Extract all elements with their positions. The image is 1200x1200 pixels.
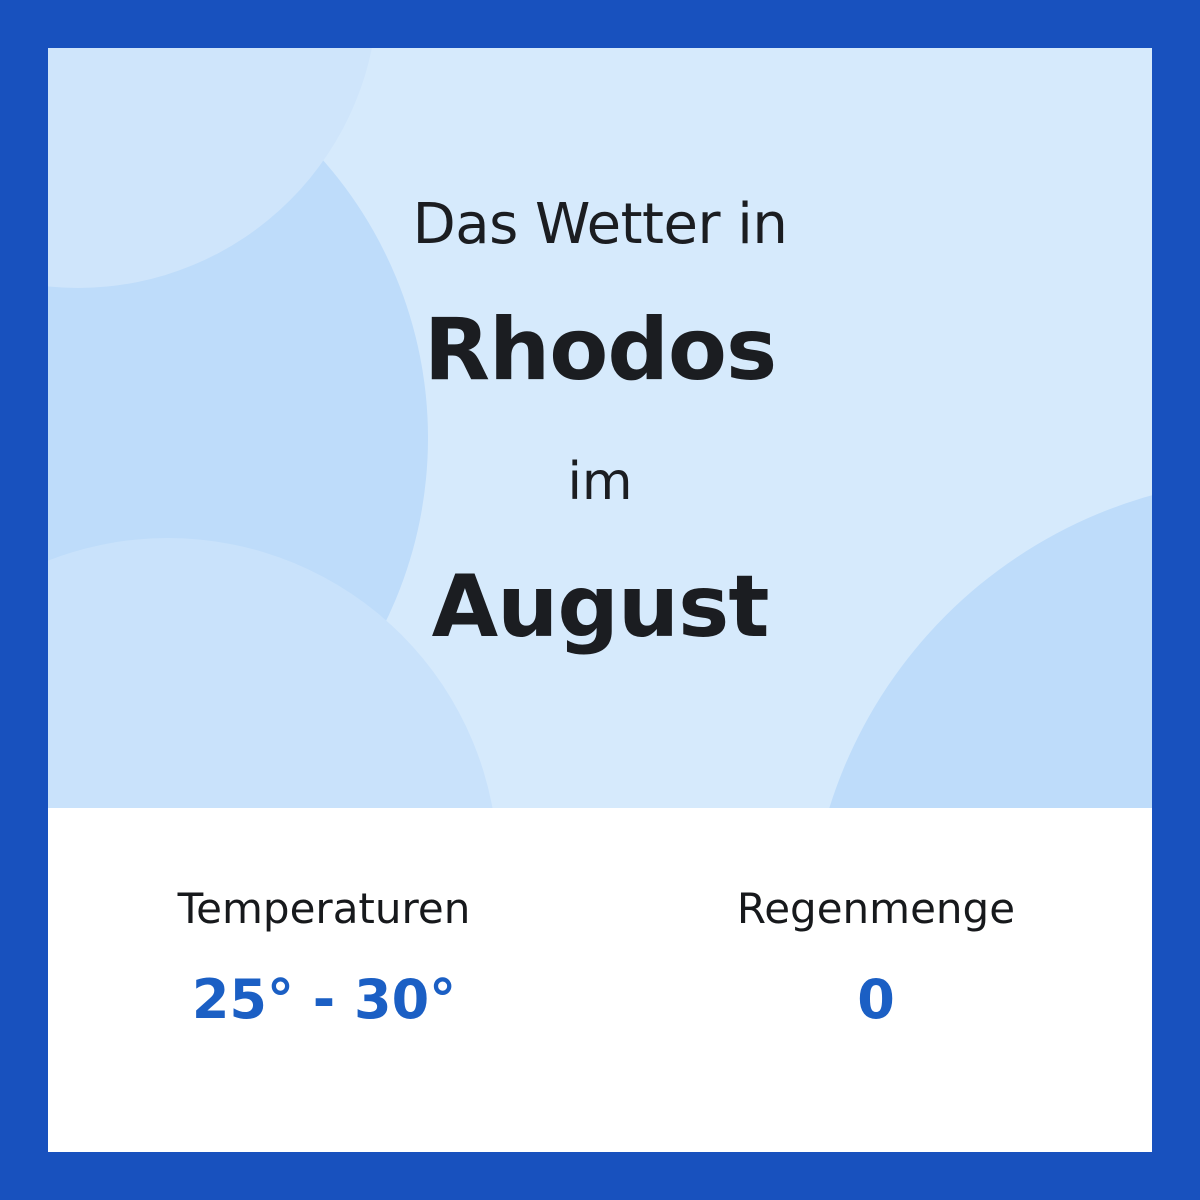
stat-rainfall: Regenmenge 0 <box>600 886 1152 1030</box>
hero-city-name: Rhodos <box>424 305 776 395</box>
stat-temperature-value: 25° - 30° <box>192 970 456 1029</box>
hero-connector-text: im <box>567 455 632 510</box>
hero-month-name: August <box>432 562 769 652</box>
stat-rainfall-value: 0 <box>857 970 895 1029</box>
weather-card: Das Wetter in Rhodos im August Temperatu… <box>48 48 1152 1152</box>
hero-intro-text: Das Wetter in <box>413 196 788 255</box>
stat-temperature: Temperaturen 25° - 30° <box>48 886 600 1030</box>
stat-temperature-label: Temperaturen <box>178 886 471 932</box>
hero-section: Das Wetter in Rhodos im August <box>48 48 1152 808</box>
stats-section: Temperaturen 25° - 30° Regenmenge 0 <box>48 808 1152 1152</box>
stat-rainfall-label: Regenmenge <box>737 886 1015 932</box>
hero-text-block: Das Wetter in Rhodos im August <box>48 48 1152 808</box>
